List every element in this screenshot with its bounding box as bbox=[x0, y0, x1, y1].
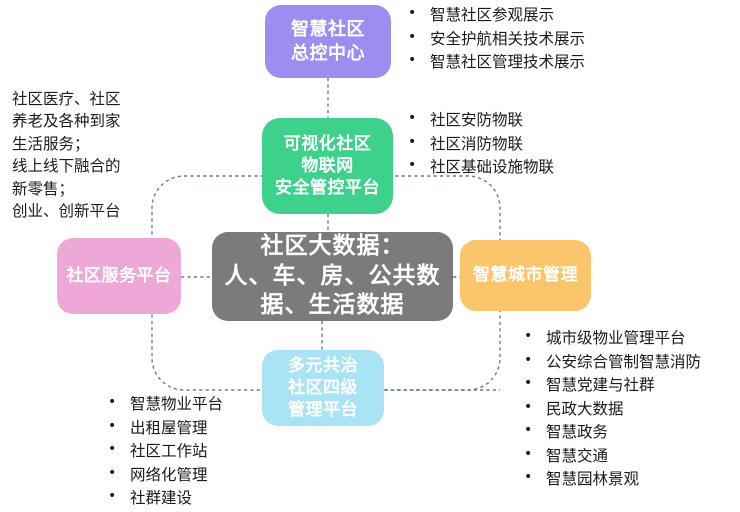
node-visual-community-iot-security-platform[interactable]: 可视化社区 物联网 安全管控平台 bbox=[262, 118, 393, 214]
node-green-line-3: 安全管控平台 bbox=[262, 177, 393, 199]
list-item: 出租屋管理 bbox=[104, 417, 223, 441]
list-item: 社区消防物联 bbox=[404, 133, 554, 157]
annotation-left-line-2: 养老及各种到家 bbox=[12, 110, 121, 132]
annotation-bottom-left-bullets: 智慧物业平台 出租屋管理 社区工作站 网络化管理 社群建设 bbox=[104, 393, 223, 511]
annotation-green-bullets: 社区安防物联 社区消防物联 社区基础设施物联 bbox=[404, 109, 554, 180]
node-multi-governance-four-level-platform[interactable]: 多元共治 社区四级 管理平台 bbox=[262, 350, 384, 426]
node-green-line-2: 物联网 bbox=[262, 155, 393, 177]
list-item: 智慧党建与社群 bbox=[520, 374, 701, 398]
node-center-line-3: 据、生活数据 bbox=[212, 291, 453, 321]
node-smart-city-management[interactable]: 智慧城市管理 bbox=[460, 240, 591, 311]
node-bottom-line-3: 管理平台 bbox=[262, 399, 384, 421]
diagram-canvas: 智慧社区 总控中心 可视化社区 物联网 安全管控平台 社区大数据： 人、车、房、… bbox=[0, 0, 740, 512]
annotation-left-line-3: 生活服务； bbox=[12, 133, 121, 155]
list-item: 社区工作站 bbox=[104, 440, 223, 464]
node-left-line-1: 社区服务平台 bbox=[57, 265, 181, 287]
list-item: 智慧社区参观展示 bbox=[404, 4, 585, 28]
node-right-line-1: 智慧城市管理 bbox=[460, 264, 591, 286]
list-item: 智慧交通 bbox=[520, 445, 701, 469]
node-center-line-1: 社区大数据： bbox=[212, 232, 453, 262]
node-green-line-1: 可视化社区 bbox=[262, 133, 393, 155]
list-item: 智慧园林景观 bbox=[520, 468, 701, 492]
node-center-line-2: 人、车、房、公共数 bbox=[212, 262, 453, 292]
node-bottom-line-2: 社区四级 bbox=[262, 377, 384, 399]
node-community-big-data[interactable]: 社区大数据： 人、车、房、公共数 据、生活数据 bbox=[212, 232, 453, 321]
list-item: 智慧社区管理技术展示 bbox=[404, 51, 585, 75]
list-item: 社群建设 bbox=[104, 487, 223, 511]
annotation-left-text: 社区医疗、社区 养老及各种到家 生活服务； 线上线下融合的 新零售； 创业、创新… bbox=[12, 88, 121, 223]
node-top-line-1: 智慧社区 bbox=[265, 18, 391, 41]
list-item: 安全护航相关技术展示 bbox=[404, 28, 585, 52]
list-item: 城市级物业管理平台 bbox=[520, 327, 701, 351]
list-item: 智慧物业平台 bbox=[104, 393, 223, 417]
annotation-left-line-6: 创业、创新平台 bbox=[12, 200, 121, 222]
annotation-top-bullets: 智慧社区参观展示 安全护航相关技术展示 智慧社区管理技术展示 bbox=[404, 4, 585, 75]
list-item: 网络化管理 bbox=[104, 464, 223, 488]
annotation-left-line-1: 社区医疗、社区 bbox=[12, 88, 121, 110]
list-item: 公安综合管制智慧消防 bbox=[520, 351, 701, 375]
annotation-left-line-5: 新零售； bbox=[12, 178, 121, 200]
list-item: 智慧政务 bbox=[520, 421, 701, 445]
list-item: 民政大数据 bbox=[520, 398, 701, 422]
node-bottom-line-1: 多元共治 bbox=[262, 355, 384, 377]
node-top-line-2: 总控中心 bbox=[265, 42, 391, 65]
annotation-left-line-4: 线上线下融合的 bbox=[12, 155, 121, 177]
node-community-service-platform[interactable]: 社区服务平台 bbox=[57, 238, 181, 314]
node-smart-community-control-center[interactable]: 智慧社区 总控中心 bbox=[265, 5, 391, 78]
list-item: 社区基础设施物联 bbox=[404, 156, 554, 180]
list-item: 社区安防物联 bbox=[404, 109, 554, 133]
annotation-right-bullets: 城市级物业管理平台 公安综合管制智慧消防 智慧党建与社群 民政大数据 智慧政务 … bbox=[520, 327, 701, 492]
